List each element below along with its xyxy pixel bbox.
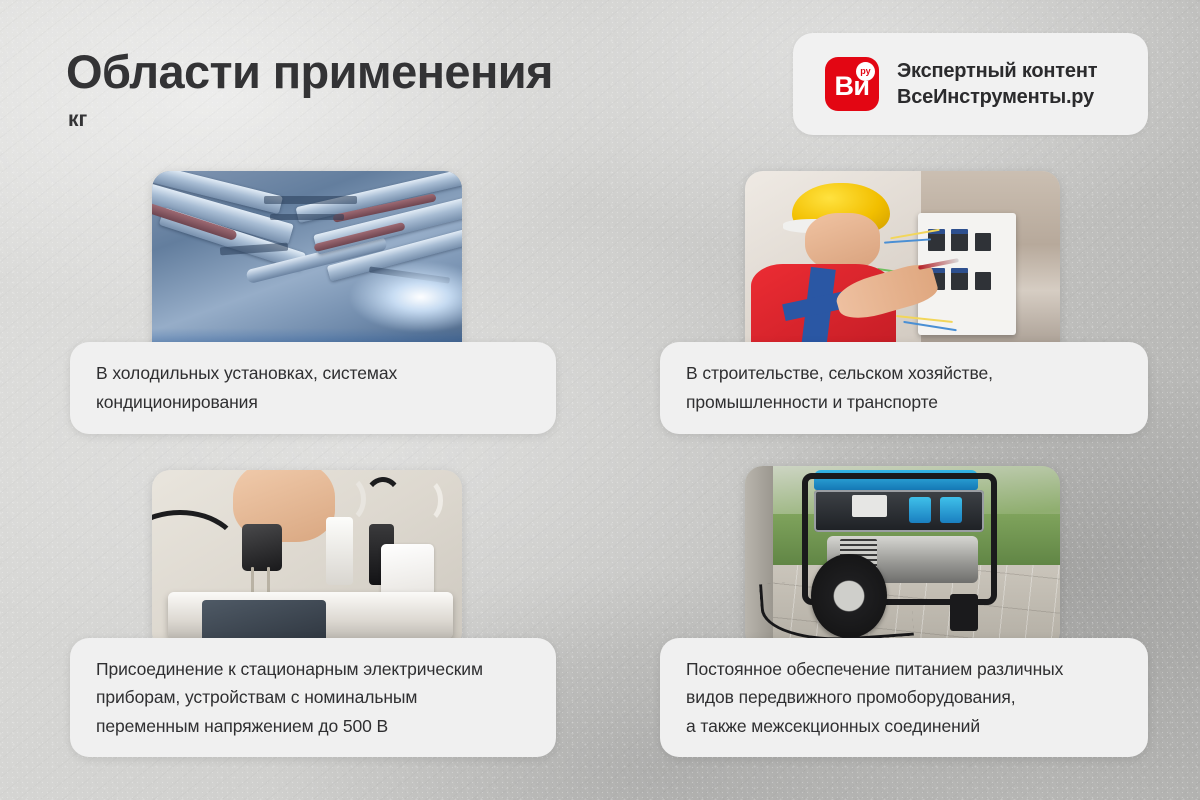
brand-badge-line-2: ВсеИнструменты.ру — [897, 86, 1097, 109]
logo-superscript-text: ру — [856, 62, 875, 81]
brand-badge-line-1: Экспертный контент — [897, 60, 1097, 83]
caption-text-1: В холодильных установках, системах конди… — [96, 359, 397, 416]
caption-card-2: В строительстве, сельском хозяйстве, про… — [660, 342, 1148, 434]
page-title: Области применения — [66, 44, 553, 99]
industrial-hvac-ductwork-photo — [152, 171, 462, 366]
caption-card-1: В холодильных установках, системах конди… — [70, 342, 556, 434]
caption-text-3: Присоединение к стационарным электрическ… — [96, 655, 483, 741]
page-subtitle: кг — [68, 108, 87, 132]
brand-badge-text: Экспертный контент ВсеИнструменты.ру — [897, 60, 1097, 109]
portable-generator-photo — [745, 466, 1060, 649]
caption-text-4: Постоянное обеспечение питанием различны… — [686, 655, 1063, 741]
electrician-illustration — [745, 171, 1060, 364]
infographic-canvas: Области применения кг Ви ру Экспертный к… — [0, 0, 1200, 800]
light-glow — [350, 262, 462, 332]
caption-text-2: В строительстве, сельском хозяйстве, про… — [686, 359, 993, 416]
caption-card-4: Постоянное обеспечение питанием различны… — [660, 638, 1148, 757]
generator-illustration — [745, 466, 1060, 649]
hand-plugging-power-strip-photo — [152, 470, 462, 650]
hvac-illustration — [152, 171, 462, 366]
power-strip-illustration — [152, 470, 462, 650]
electrician-wiring-panel-photo — [745, 171, 1060, 364]
vseinstrumenty-logo-icon: Ви ру — [825, 57, 879, 111]
brand-badge: Ви ру Экспертный контент ВсеИнструменты.… — [793, 33, 1148, 135]
caption-card-3: Присоединение к стационарным электрическ… — [70, 638, 556, 757]
